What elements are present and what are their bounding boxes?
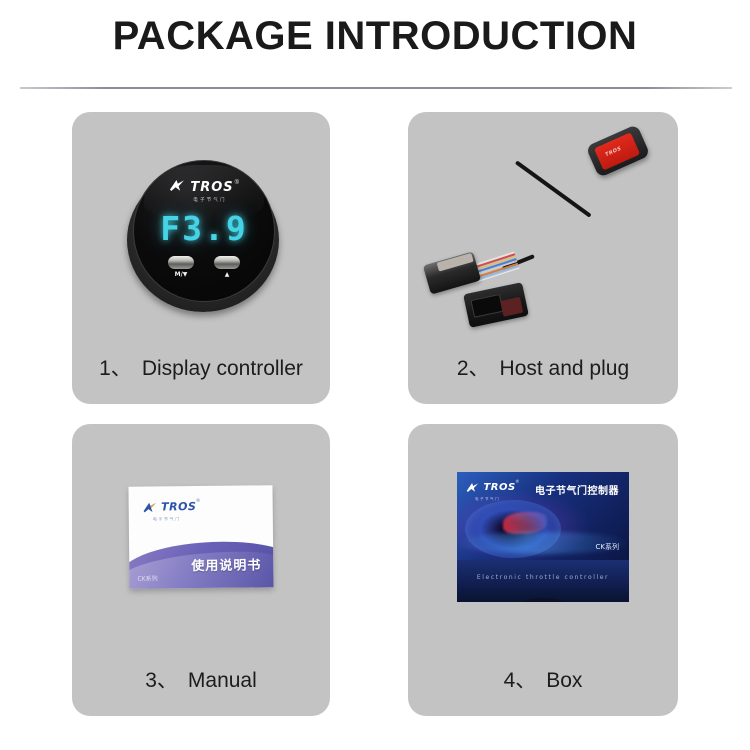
retail-box: TROS® 电子节气门 电子节气门控制器 CK系列 Electronic thr… — [457, 472, 629, 602]
harness-connector-primary — [423, 251, 481, 294]
package-item-manual[interactable]: TROS® 电子节气门 使用说明书 CK系列 3、Manual — [72, 424, 330, 716]
caption-text: Display controller — [142, 357, 303, 380]
harness-connector-secondary-keying — [500, 297, 523, 317]
controller-mode-down-button[interactable]: M/▼ — [168, 256, 194, 269]
product-image-display-controller: TROS® 电子节气门 F3.9 M/▼ ▲ — [72, 112, 330, 340]
manual-series-code: CK系列 — [137, 573, 157, 582]
harness-connector-primary-latch — [437, 253, 474, 272]
host-module-label: TROS — [594, 132, 640, 170]
controller-led-readout: F3.9 — [134, 209, 274, 248]
title-divider — [20, 87, 732, 89]
box-title-english: Electronic throttle controller — [457, 574, 629, 581]
manual-booklet: TROS® 电子节气门 使用说明书 CK系列 — [128, 485, 273, 589]
registered-mark-icon: ® — [235, 180, 239, 186]
controller-buttons: M/▼ ▲ — [134, 256, 274, 269]
caption-host-and-plug: 2、Host and plug — [408, 352, 678, 382]
registered-mark-icon: ® — [196, 498, 200, 504]
registered-mark-icon: ® — [516, 479, 519, 484]
xtros-star-icon — [143, 498, 162, 515]
package-item-display-controller[interactable]: TROS® 电子节气门 F3.9 M/▼ ▲ 1、Displa — [72, 112, 330, 404]
controller-brand-name: TROS — [190, 181, 233, 194]
box-brand-sub: 电子节气门 — [475, 498, 519, 502]
page-header: PACKAGE INTRODUCTION — [0, 0, 750, 92]
controller-up-label: ▲ — [225, 271, 230, 278]
controller-brand-logo: TROS® 电子节气门 — [134, 179, 274, 203]
controller-face: TROS® 电子节气门 F3.9 M/▼ ▲ — [133, 160, 275, 302]
caption-box: 4、Box — [408, 664, 678, 694]
xtros-star-icon — [466, 479, 483, 496]
caption-text: Box — [546, 669, 582, 692]
caption-number: 3、 — [145, 669, 178, 692]
host-module-brand-mark: TROS — [604, 146, 622, 158]
box-brand-name: TROS — [483, 483, 515, 493]
controller-brand-sub: 电子节气门 — [146, 198, 274, 203]
xtros-star-icon — [169, 179, 185, 196]
caption-number: 4、 — [504, 669, 537, 692]
caption-number: 2、 — [457, 357, 490, 380]
caption-number: 1、 — [99, 357, 132, 380]
caption-text: Manual — [188, 669, 257, 692]
box-flare-graphic — [503, 512, 547, 534]
box-brand-logo: TROS® 电子节气门 — [466, 480, 519, 502]
manual-cover-title: 使用说明书 — [191, 554, 261, 574]
package-item-box[interactable]: TROS® 电子节气门 电子节气门控制器 CK系列 Electronic thr… — [408, 424, 678, 716]
caption-text: Host and plug — [500, 357, 630, 380]
page-title: PACKAGE INTRODUCTION — [0, 14, 750, 59]
box-top-face: TROS® 电子节气门 电子节气门控制器 CK系列 — [457, 472, 629, 560]
package-items-grid: TROS® 电子节气门 F3.9 M/▼ ▲ 1、Displa — [0, 108, 750, 720]
product-image-manual: TROS® 电子节气门 使用说明书 CK系列 — [72, 424, 330, 652]
controller-illustration: TROS® 电子节气门 F3.9 M/▼ ▲ — [127, 160, 279, 312]
product-image-host-and-plug: TROS — [408, 112, 678, 340]
harness-connector-secondary — [463, 282, 529, 328]
box-title-chinese: 电子节气门控制器 — [535, 482, 619, 497]
box-front-notch — [523, 598, 563, 602]
manual-brand-sub: 电子节气门 — [153, 517, 200, 521]
manual-brand-name: TROS — [161, 501, 196, 512]
controller-mode-down-label: M/▼ — [175, 271, 188, 278]
box-front-face: Electronic throttle controller — [457, 560, 629, 602]
caption-display-controller: 1、Display controller — [72, 352, 330, 382]
manual-brand-logo: TROS® 电子节气门 — [143, 499, 201, 522]
host-main-cable — [515, 160, 592, 217]
box-series-code: CK系列 — [596, 542, 619, 552]
product-image-box: TROS® 电子节气门 电子节气门控制器 CK系列 Electronic thr… — [408, 424, 678, 652]
package-item-host-and-plug[interactable]: TROS 2、Host and plug — [408, 112, 678, 404]
host-module: TROS — [586, 124, 651, 178]
caption-manual: 3、Manual — [72, 664, 330, 694]
controller-up-button[interactable]: ▲ — [214, 256, 240, 269]
harness-connector-secondary-slot — [470, 294, 503, 318]
